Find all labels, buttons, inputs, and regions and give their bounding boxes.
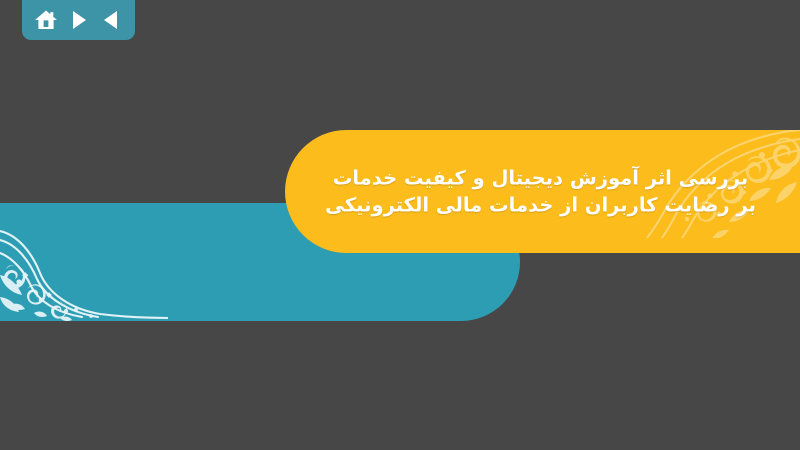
title-line-1: بررسی اثر آموزش دیجیتال و کیفیت خدمات bbox=[319, 164, 762, 192]
slide-title-banner: بررسی اثر آموزش دیجیتال و کیفیت خدمات بر… bbox=[285, 130, 800, 253]
title-line-2: بر رضایت کاربران از خدمات مالی الکترونیک… bbox=[319, 192, 762, 220]
triangle-left-icon bbox=[102, 10, 120, 30]
previous-slide-button[interactable] bbox=[96, 5, 126, 35]
triangle-right-icon bbox=[70, 10, 88, 30]
home-icon bbox=[34, 9, 58, 31]
page-title: بررسی اثر آموزش دیجیتال و کیفیت خدمات بر… bbox=[319, 164, 762, 219]
home-button[interactable] bbox=[31, 5, 61, 35]
presentation-slide: بررسی اثر آموزش دیجیتال و کیفیت خدمات بر… bbox=[0, 0, 800, 450]
next-slide-button[interactable] bbox=[64, 5, 94, 35]
slide-navigation-bar bbox=[22, 0, 135, 40]
arabesque-corner-ornament bbox=[0, 213, 168, 321]
